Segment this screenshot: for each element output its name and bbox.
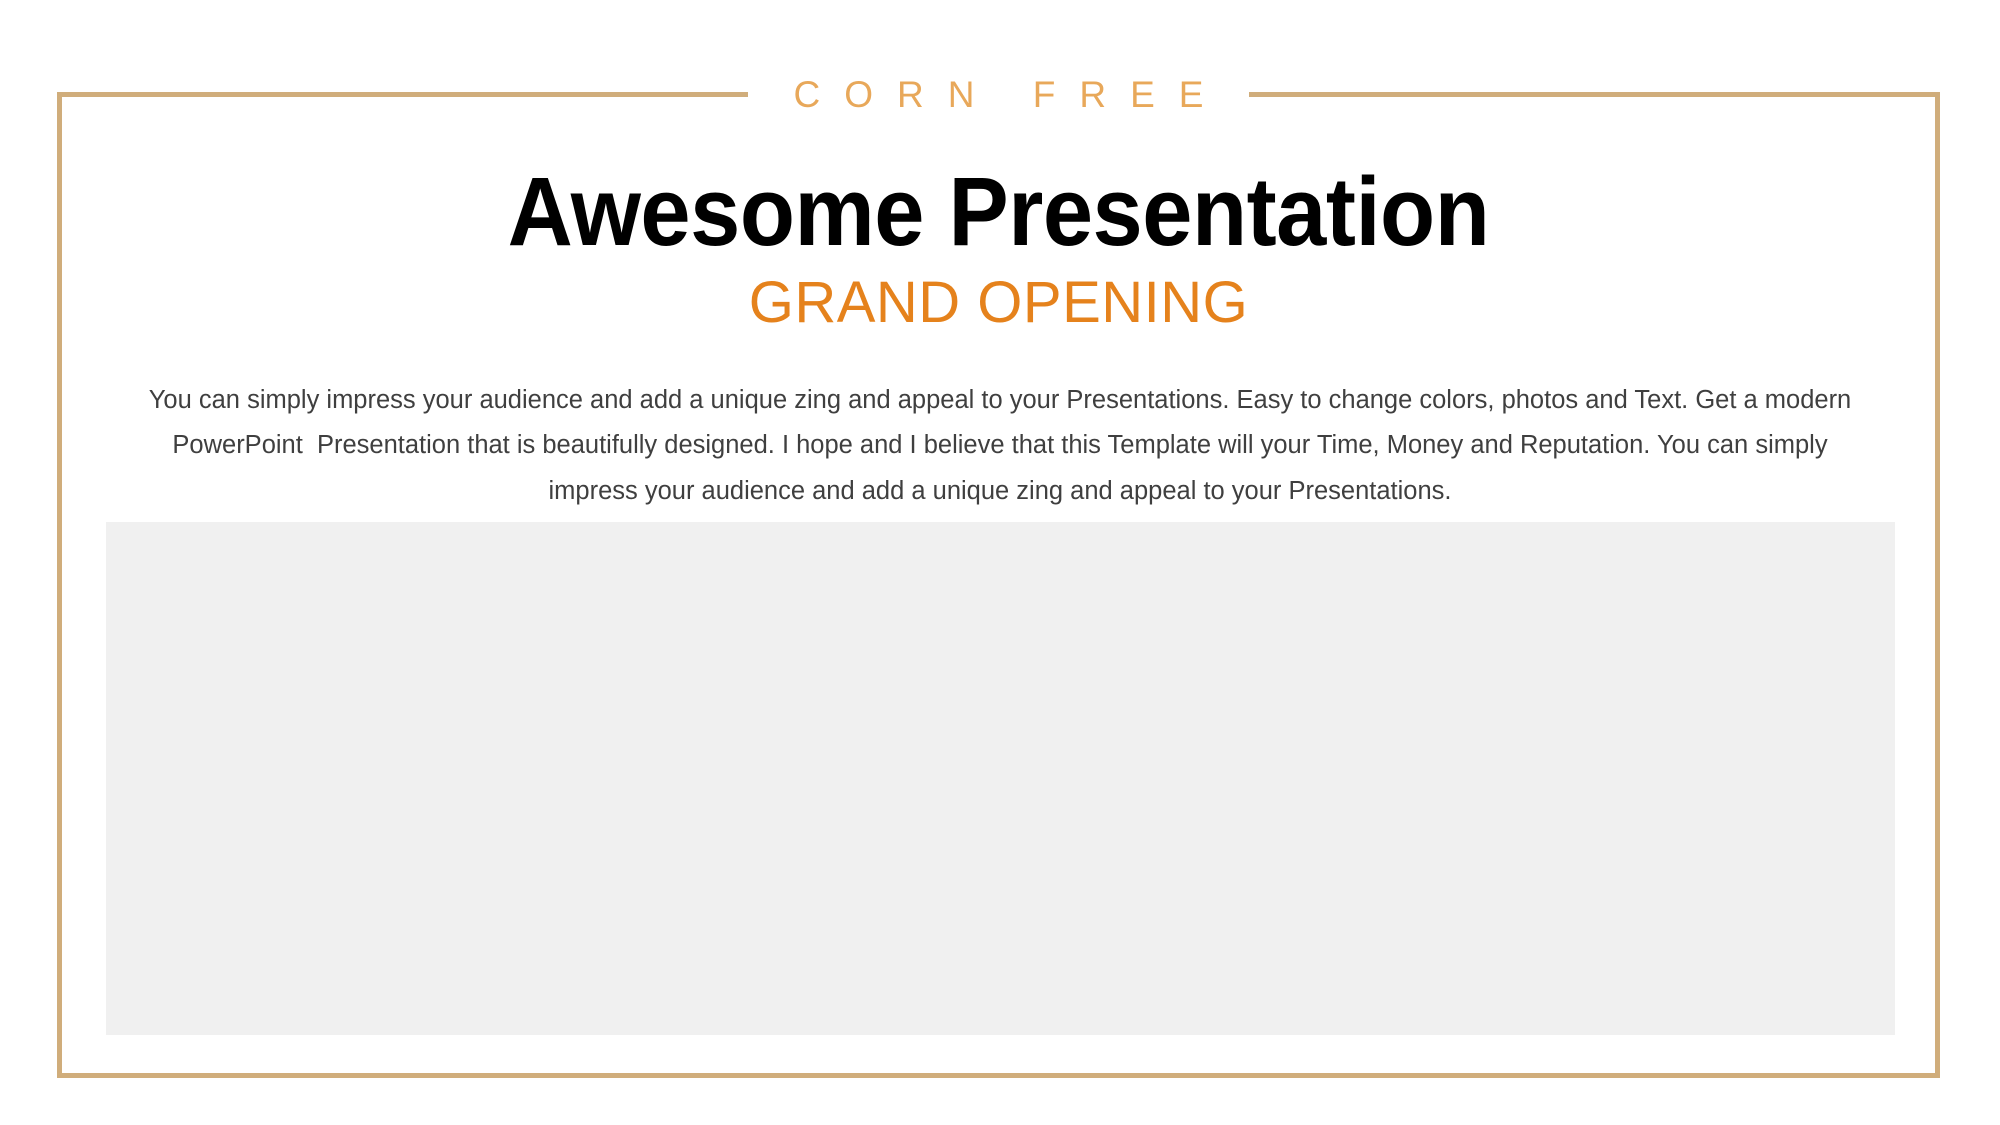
presentation-slide: CORN FREE Awesome Presentation GRAND OPE… xyxy=(0,0,2000,1125)
headline-block: Awesome Presentation GRAND OPENING xyxy=(57,160,1940,335)
media-placeholder[interactable] xyxy=(106,522,1895,1035)
slide-subtitle: GRAND OPENING xyxy=(57,271,1940,335)
eyebrow-rule-right xyxy=(1249,92,1940,97)
slide-title: Awesome Presentation xyxy=(123,160,1874,265)
eyebrow-banner: CORN FREE xyxy=(57,64,1940,124)
eyebrow-label: CORN FREE xyxy=(748,76,1250,113)
body-paragraph: You can simply impress your audience and… xyxy=(143,378,1857,514)
eyebrow-rule-left xyxy=(57,92,748,97)
